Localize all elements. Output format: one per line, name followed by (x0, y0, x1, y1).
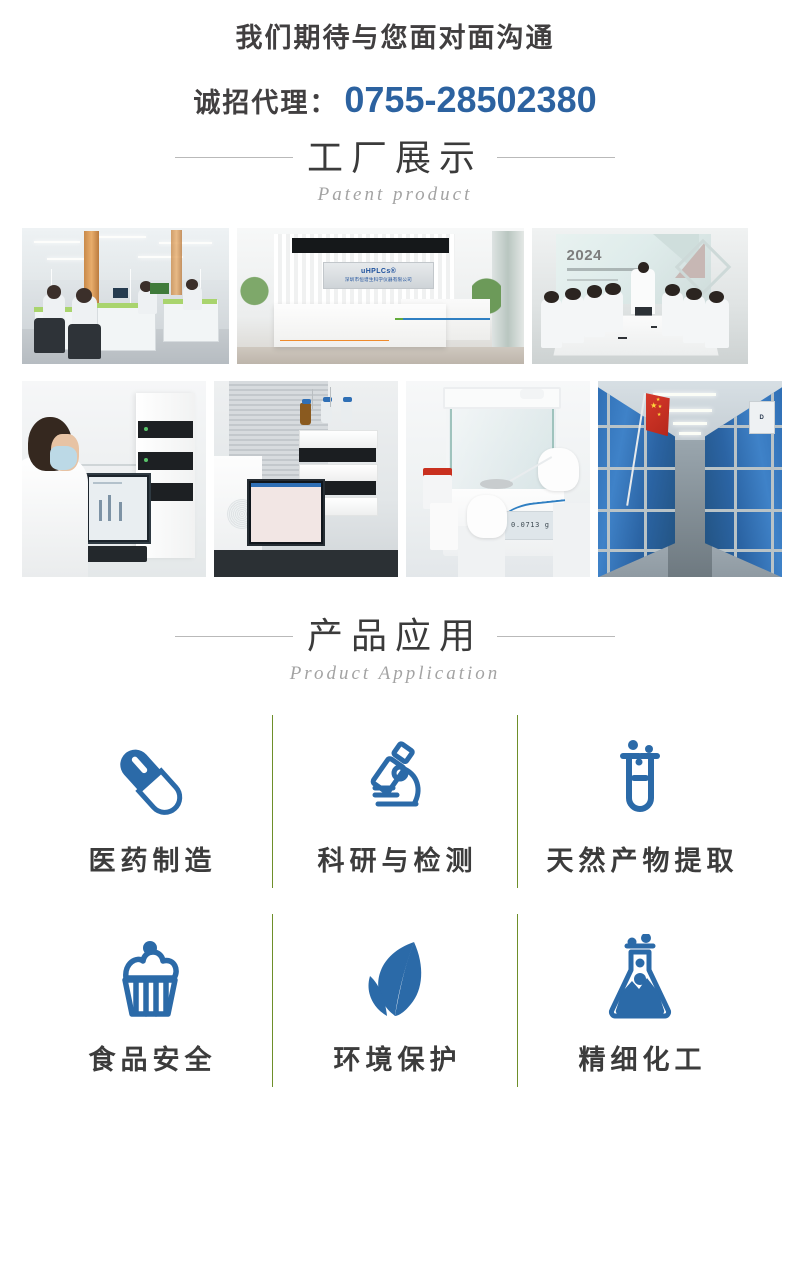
presenter-head (638, 262, 649, 273)
chinese-flag: ★ ★ ★ ★ (646, 393, 670, 436)
application-item-research[interactable]: 科研与检测 (272, 715, 517, 888)
heading-row: 产品应用 (0, 615, 790, 656)
office-chair (68, 324, 101, 359)
computer-monitor (247, 479, 325, 546)
white-reagent-bottle (430, 503, 458, 550)
phone-number[interactable]: 0755-28502380 (344, 78, 596, 121)
leaf-icon (351, 928, 439, 1032)
instrument-workstation-photo[interactable] (214, 381, 398, 577)
promo-page: 我们期待与您面对面沟通 诚招代理： 0755-28502380 工厂展示 Pat… (0, 0, 790, 1272)
instrument-scene (214, 381, 398, 577)
analytical-balance-photo[interactable]: 0.0713 g (406, 381, 590, 577)
monitor (113, 288, 127, 298)
heading-rule-left (175, 636, 293, 637)
solvent-line (312, 389, 313, 409)
attendee (705, 299, 729, 348)
flag-star: ★ (658, 405, 662, 410)
face-mask (50, 446, 78, 470)
toolbar-line (93, 482, 122, 484)
hplc-module (299, 430, 378, 449)
ceiling-light (47, 258, 84, 260)
factory-title-zh: 工厂展示 (293, 137, 497, 178)
attendee (683, 296, 705, 342)
attendee (562, 296, 584, 342)
capsule-pill-icon (109, 729, 191, 833)
lab-coat (22, 456, 88, 578)
plant (240, 269, 269, 323)
chromatogram-peak (108, 495, 111, 521)
hplc-module (138, 452, 193, 470)
application-label: 天然产物提取 (542, 839, 739, 878)
rack-upright (607, 387, 610, 577)
keyboard (81, 546, 147, 562)
application-item-pharmaceutical[interactable]: 医药制造 (28, 715, 272, 888)
hplc-scene (22, 381, 206, 577)
erlenmeyer-flask-icon (598, 928, 682, 1032)
bottle-cap (302, 399, 311, 404)
ceiling-light (92, 236, 146, 238)
monitor (150, 283, 169, 294)
meeting-scene: 2024 (532, 228, 748, 364)
engineer-hplc-photo[interactable] (22, 381, 206, 577)
application-label: 医药制造 (84, 839, 217, 878)
factory-gallery-row-1: uHPLCs® 深圳市恒谱生科学仪器有限公司 202 (0, 228, 790, 364)
flag-star: ★ (657, 413, 661, 418)
attendee (541, 299, 563, 348)
slide-year-text: 2024 (567, 247, 602, 264)
attendee (603, 291, 622, 332)
lab-bench (214, 550, 398, 577)
application-label: 科研与检测 (313, 839, 478, 878)
solvent-bottle-amber (300, 403, 311, 425)
worker-head (186, 279, 198, 290)
gloved-hand-right (538, 448, 578, 491)
attendee (662, 292, 684, 336)
attendee (584, 294, 606, 338)
factory-gallery-row-2: 0.0713 g (0, 381, 790, 577)
application-title-zh: 产品应用 (293, 615, 497, 656)
heading-rule-left (175, 157, 293, 158)
application-label: 食品安全 (84, 1038, 217, 1077)
factory-section-heading: 工厂展示 Patent product (0, 137, 790, 206)
ceiling-light (664, 409, 712, 412)
company-logo-text: uHPLCs® (361, 268, 396, 275)
attendee-head (544, 291, 559, 303)
contact-block: 我们期待与您面对面沟通 诚招代理： 0755-28502380 (0, 0, 790, 121)
chromatogram-peak (119, 502, 122, 521)
heading-rule-right (497, 157, 615, 158)
aisle-sign: D (749, 401, 775, 434)
table-item (618, 337, 627, 339)
warehouse-scene: ★ ★ ★ ★ D (598, 381, 782, 577)
solvent-line (330, 387, 331, 407)
application-label: 环境保护 (329, 1038, 462, 1077)
factory-title-en: Patent product (0, 184, 790, 206)
reception-lobby-photo[interactable]: uHPLCs® 深圳市恒谱生科学仪器有限公司 (237, 228, 524, 364)
company-sign: uHPLCs® 深圳市恒谱生科学仪器有限公司 (323, 262, 434, 288)
application-label: 精细化工 (574, 1038, 707, 1077)
hplc-module-dark (299, 448, 376, 462)
chromatogram-peak (99, 500, 102, 521)
application-grid: 医药制造 科 (0, 715, 790, 1087)
balance-reading: 0.0713 g (511, 521, 550, 529)
application-row-2: 食品安全 环境保护 (28, 914, 762, 1087)
office-chair (34, 318, 65, 353)
weighing-pan (480, 479, 513, 489)
ceiling-light (653, 393, 716, 396)
test-tube-icon (605, 729, 675, 833)
reception-scene: uHPLCs® 深圳市恒谱生科学仪器有限公司 (237, 228, 524, 364)
status-led (144, 427, 148, 431)
window-title-bar (251, 483, 321, 487)
gloved-hand-left (467, 495, 507, 538)
ceiling-light (159, 242, 213, 244)
attendee-head (565, 288, 580, 300)
flag-star: ★ (656, 398, 660, 403)
orange-accent-stripe (280, 340, 389, 342)
ceiling-light (679, 432, 701, 435)
monitor-screen (89, 477, 148, 540)
heading-row: 工厂展示 (0, 137, 790, 178)
application-item-food-safety[interactable]: 食品安全 (28, 914, 272, 1087)
attendee-head (587, 285, 602, 297)
row-spacer (28, 888, 762, 914)
application-item-natural-extract[interactable]: 天然产物提取 (517, 715, 762, 888)
hplc-module (138, 421, 193, 439)
blue-accent-stripe (403, 318, 489, 320)
slide-subtitle-bar (567, 279, 619, 281)
application-item-fine-chemicals[interactable]: 精细化工 (517, 914, 762, 1087)
contact-headline: 我们期待与您面对面沟通 (0, 22, 790, 56)
shield-handle (520, 389, 544, 399)
attendee-head (605, 283, 620, 295)
application-section-heading: 产品应用 Product Application (0, 615, 790, 684)
application-item-environment[interactable]: 环境保护 (272, 914, 517, 1087)
agent-recruitment-line: 诚招代理： 0755-28502380 (0, 78, 790, 121)
green-accent-stripe (395, 318, 404, 320)
office-workstations-photo[interactable] (22, 228, 229, 364)
microscope-icon (352, 729, 438, 833)
warehouse-photo[interactable]: ★ ★ ★ ★ D (598, 381, 782, 577)
meeting-room-photo[interactable]: 2024 (532, 228, 748, 364)
lobby-floor (237, 347, 524, 365)
company-name-text: 深圳市恒谱生科学仪器有限公司 (345, 276, 412, 282)
application-title-en: Product Application (0, 663, 790, 685)
status-led (144, 458, 148, 462)
ceiling-light (673, 422, 706, 425)
computer-monitor (85, 473, 152, 544)
bottle-cap (343, 397, 352, 402)
office-scene (22, 228, 229, 364)
lab-coat-sleeve (553, 503, 590, 577)
monitor-screen (251, 483, 321, 542)
heading-rule-right (497, 636, 615, 637)
attendee-head (686, 288, 701, 300)
balance-scene: 0.0713 g (406, 381, 590, 577)
ceiling-band (292, 238, 450, 253)
cupcake-icon (105, 928, 195, 1032)
table-item (651, 326, 657, 328)
solvent-bottle-clear (341, 401, 352, 423)
column (171, 230, 182, 295)
application-row-1: 医药制造 科 (28, 715, 762, 888)
agent-prefix-label: 诚招代理： (193, 87, 338, 119)
ceiling-light (34, 241, 80, 243)
